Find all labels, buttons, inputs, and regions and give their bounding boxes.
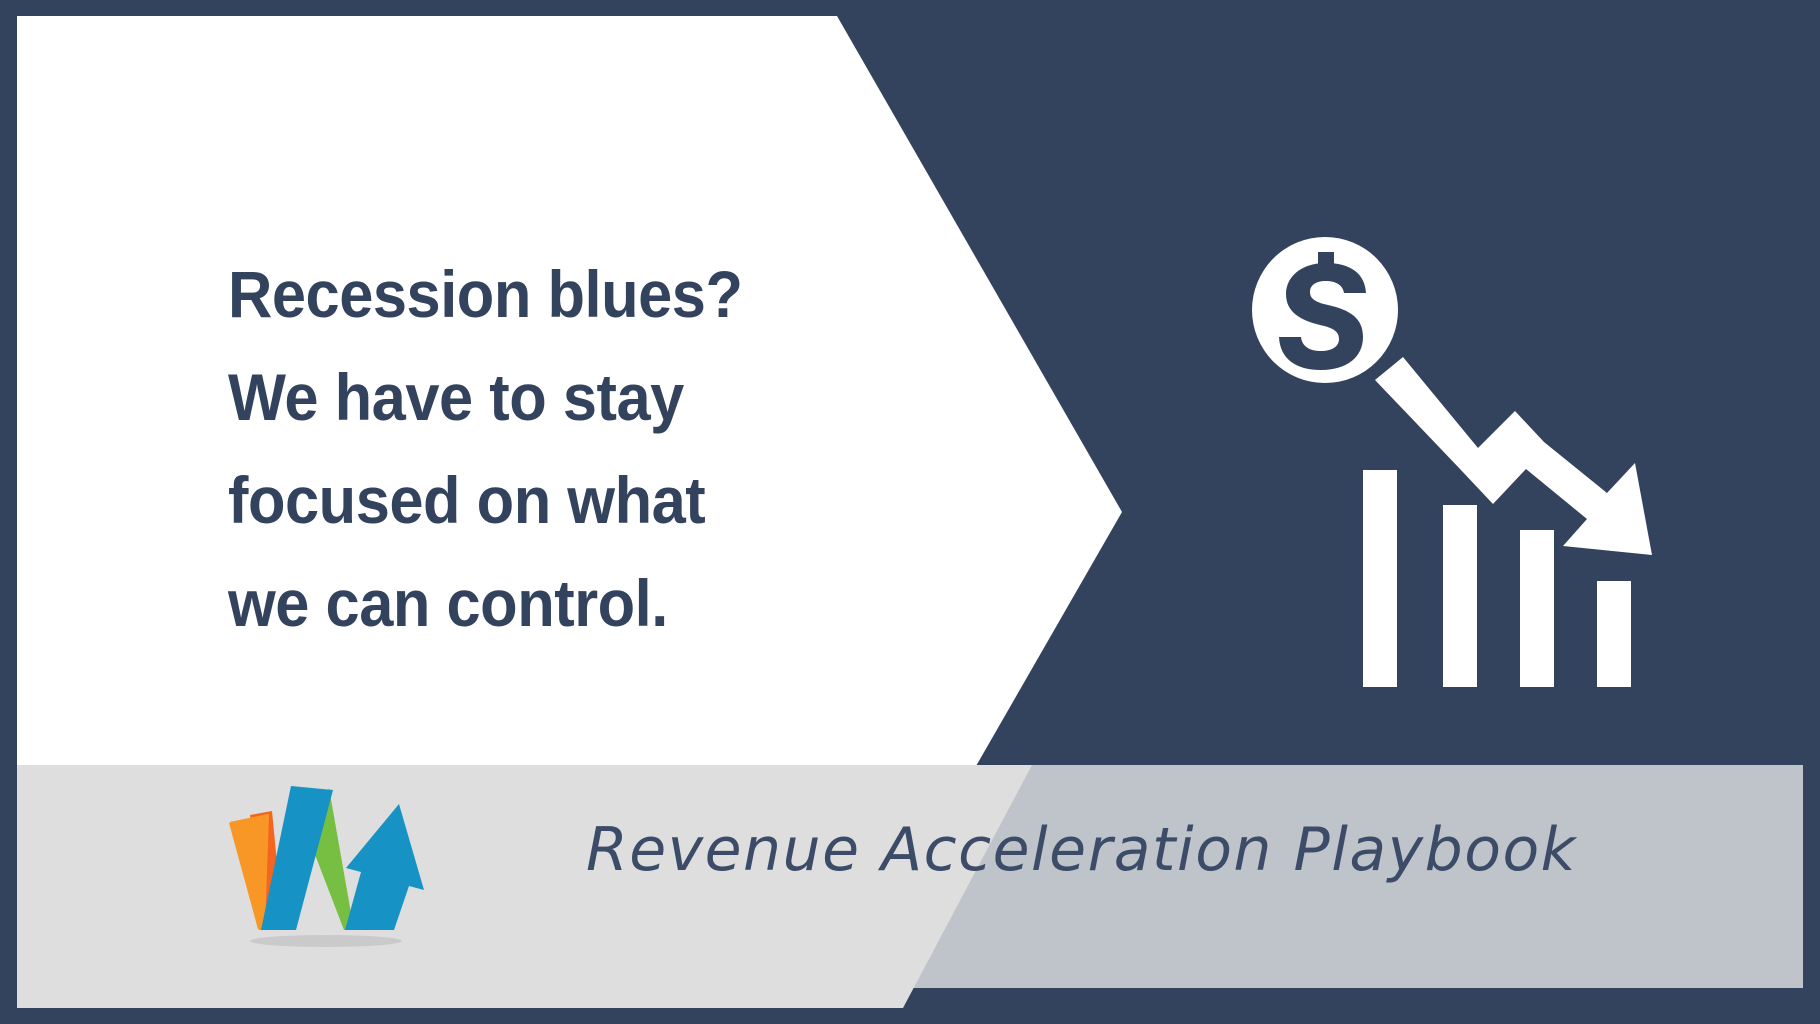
tagline-text: Revenue Acceleration Playbook [586, 815, 1577, 885]
chart-bar-4 [1597, 581, 1631, 687]
headline-line-4: we can control. [228, 552, 860, 655]
page-title: Recession blues? We have to stay focused… [228, 243, 860, 655]
headline-line-3: focused on what [228, 449, 860, 552]
slide-canvas: Recession blues? We have to stay focused… [0, 0, 1820, 1024]
chart-bar-1 [1363, 470, 1397, 687]
logo-blue-up-arrow [345, 804, 424, 930]
logo-shadow [250, 935, 402, 947]
declining-arrow-icon [1375, 357, 1652, 555]
headline-line-2: We have to stay [228, 346, 860, 449]
headline-line-1: Recession blues? [228, 243, 860, 346]
chart-bar-2 [1443, 505, 1477, 687]
chart-bar-3 [1520, 530, 1554, 687]
footer-band-light [17, 765, 1032, 1008]
declining-revenue-chart-icon [1215, 205, 1685, 695]
brand-logo [228, 778, 428, 963]
